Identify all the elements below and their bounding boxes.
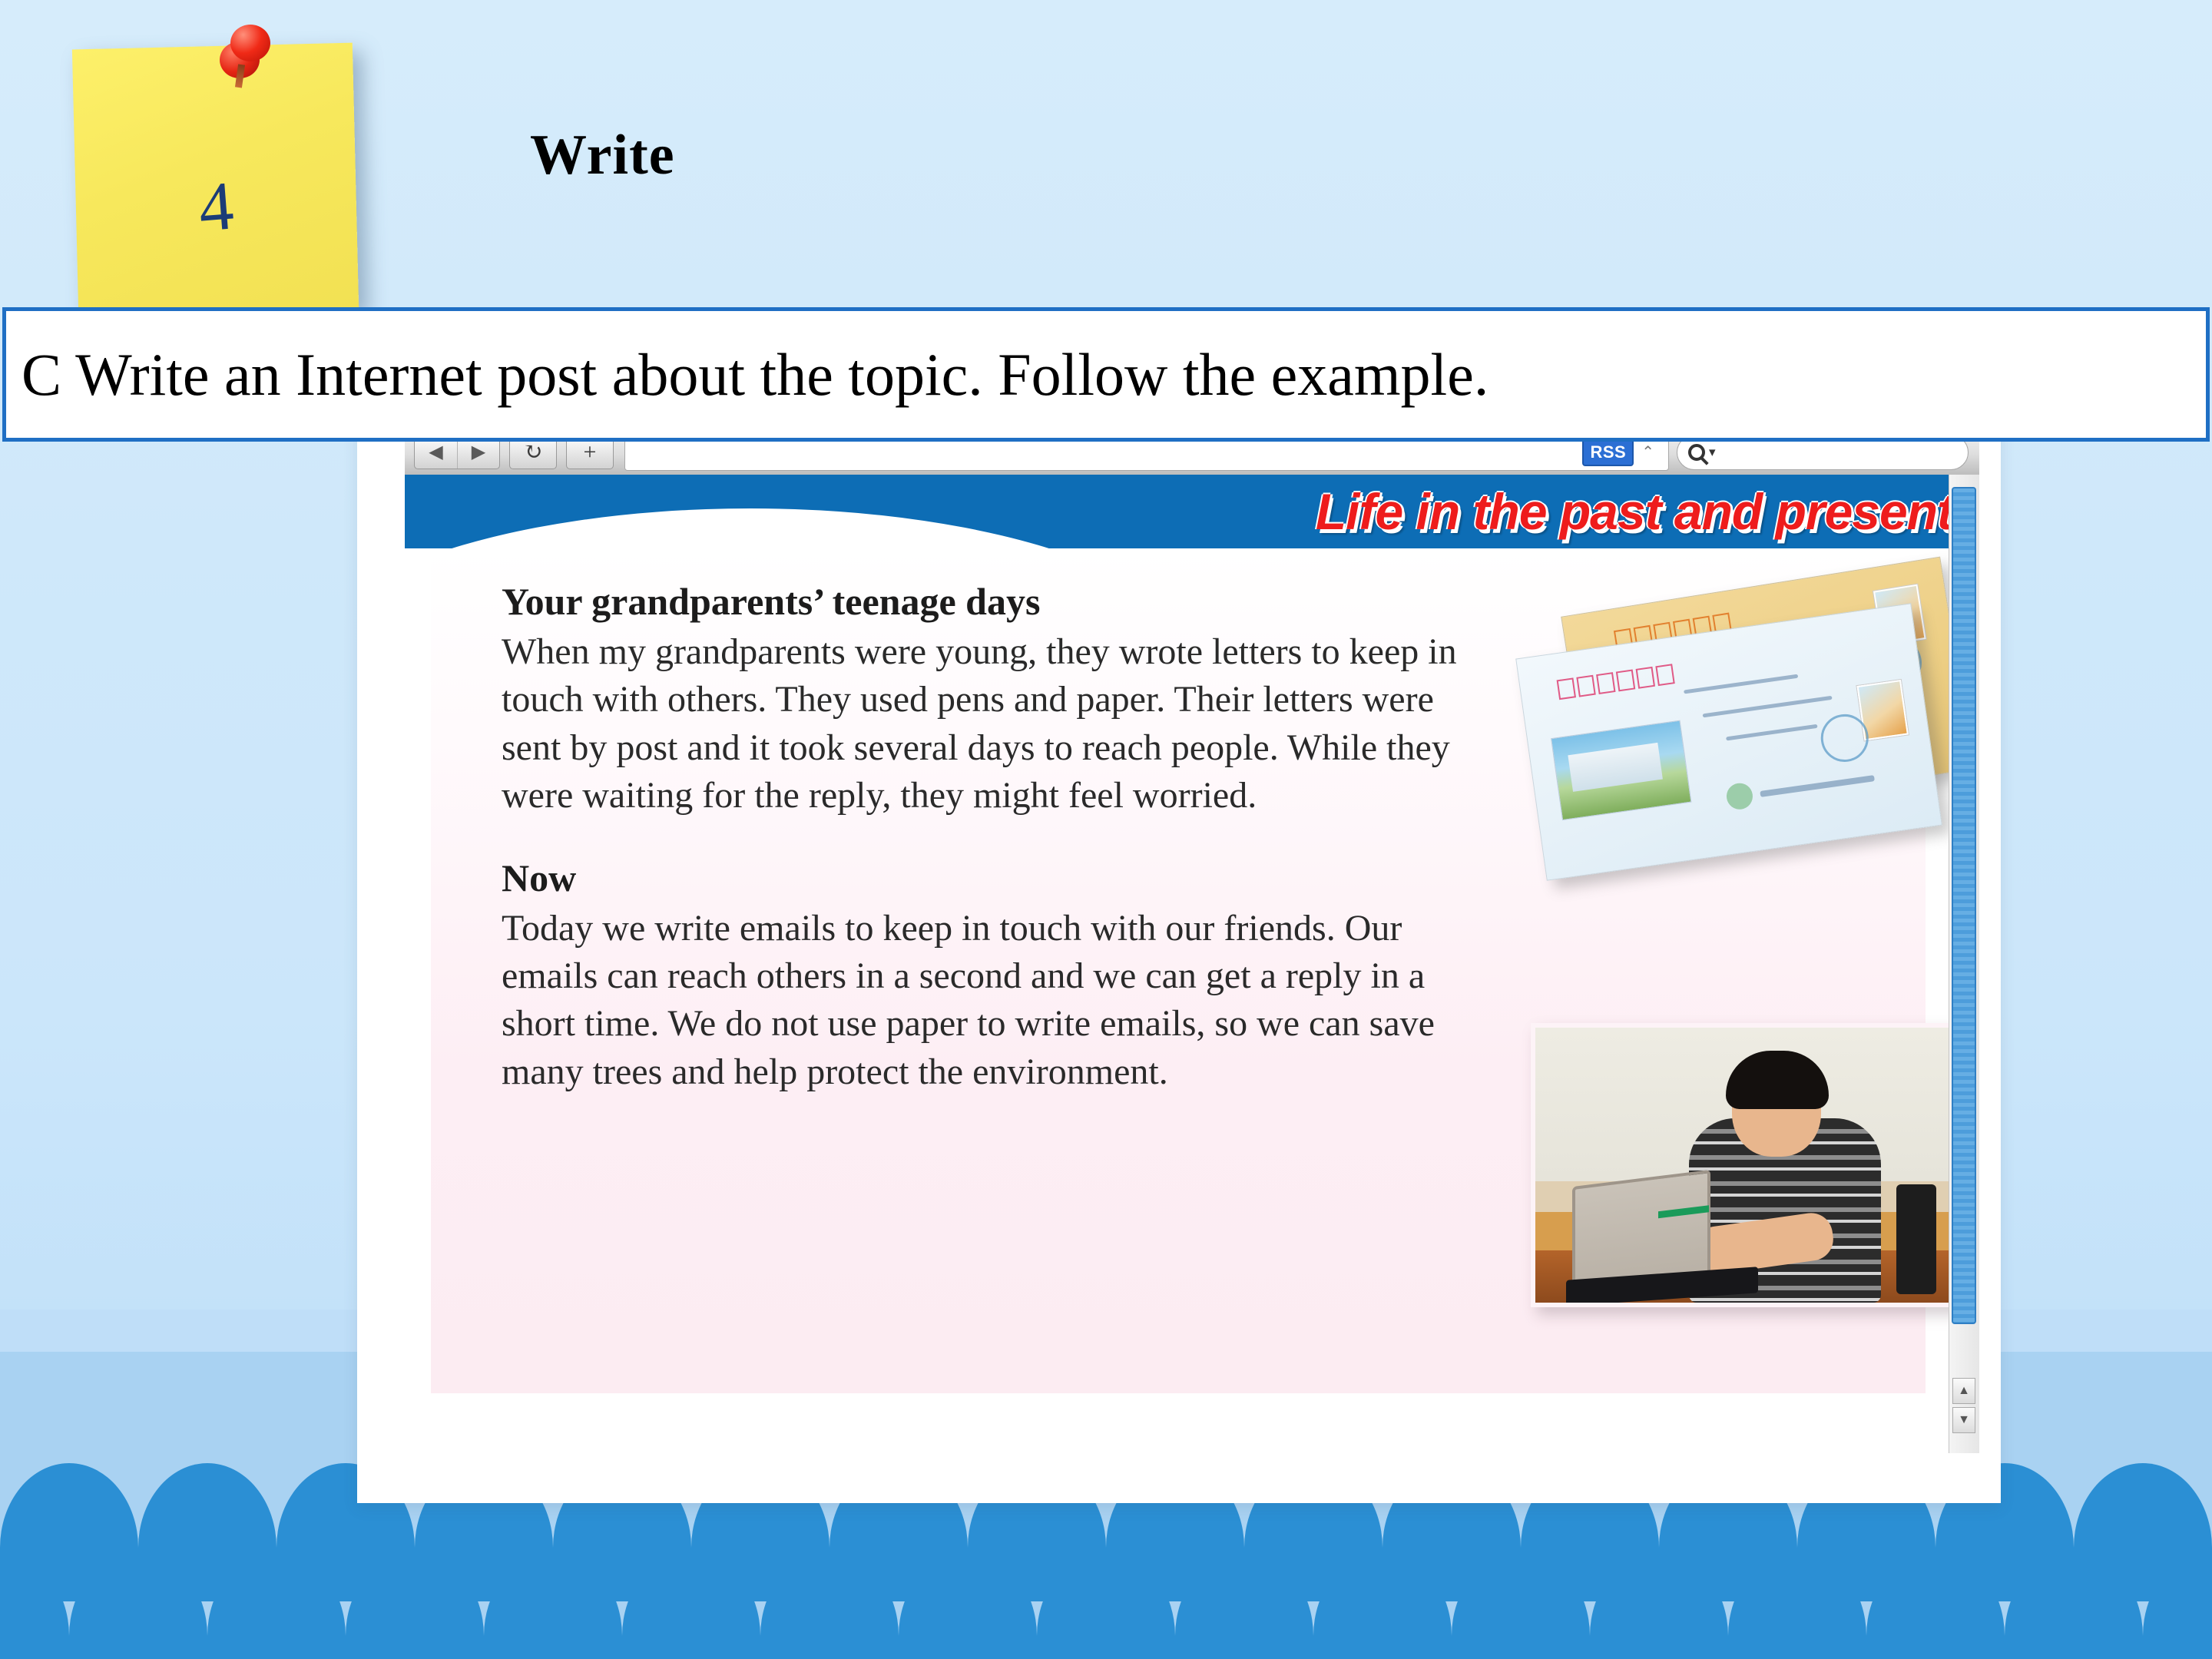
slide-header: 4 Write: [0, 0, 2212, 307]
scroll-down-button[interactable]: ▼: [1952, 1407, 1975, 1433]
address-bar-separator: ⌃: [1634, 442, 1662, 462]
scroll-up-button[interactable]: ▲: [1952, 1378, 1975, 1404]
site-banner: Life in the past and present: [405, 475, 1979, 548]
laptop-photo: [1531, 1023, 1961, 1307]
post-body-now: Today we write emails to keep in touch w…: [502, 905, 1469, 1097]
instruction-text: C Write an Internet post about the topic…: [6, 340, 1488, 409]
vertical-scrollbar[interactable]: ▲ ▼: [1949, 475, 1979, 1453]
sticky-note: 4: [52, 14, 375, 313]
post-heading-now: Now: [502, 856, 1469, 900]
sticky-note-number: 4: [74, 162, 359, 253]
envelopes-photo: [1506, 578, 1979, 908]
post-text: Your grandparents’ teenage days When my …: [502, 579, 1469, 1096]
site-banner-title: Life in the past and present: [1316, 482, 1953, 541]
envelope-photo-panel: [1551, 720, 1691, 821]
instruction-bar: C Write an Internet post about the topic…: [2, 307, 2210, 442]
post-heading-past: Your grandparents’ teenage days: [502, 579, 1469, 624]
search-icon: [1688, 444, 1705, 461]
sticky-note-paper: 4: [72, 43, 359, 315]
pushpin-icon: [220, 25, 276, 89]
scrollbar-thumb[interactable]: [1952, 487, 1976, 1324]
browser-window: ◀ ▶ ↻ + RSS ⌃ ▾ Life in the past and pre…: [405, 424, 1979, 1453]
slide-canvas: 4 Write C Write an Internet post about t…: [0, 0, 2212, 1659]
page-body: Your grandparents’ teenage days When my …: [405, 548, 1979, 1453]
envelope-logo: [1725, 782, 1754, 811]
chevron-down-icon[interactable]: ▾: [1709, 445, 1716, 460]
post-panel: Your grandparents’ teenage days When my …: [431, 548, 1926, 1393]
browser-screenshot-card: ◀ ▶ ↻ + RSS ⌃ ▾ Life in the past and pre…: [357, 424, 2001, 1503]
postal-code-boxes-front: [1557, 664, 1675, 700]
page-title: Write: [530, 123, 675, 188]
chair-shape: [1896, 1184, 1936, 1294]
post-body-past: When my grandparents were young, they wr…: [502, 628, 1469, 820]
rss-icon[interactable]: RSS: [1582, 439, 1634, 466]
banner-arc-decoration: [405, 508, 1204, 548]
